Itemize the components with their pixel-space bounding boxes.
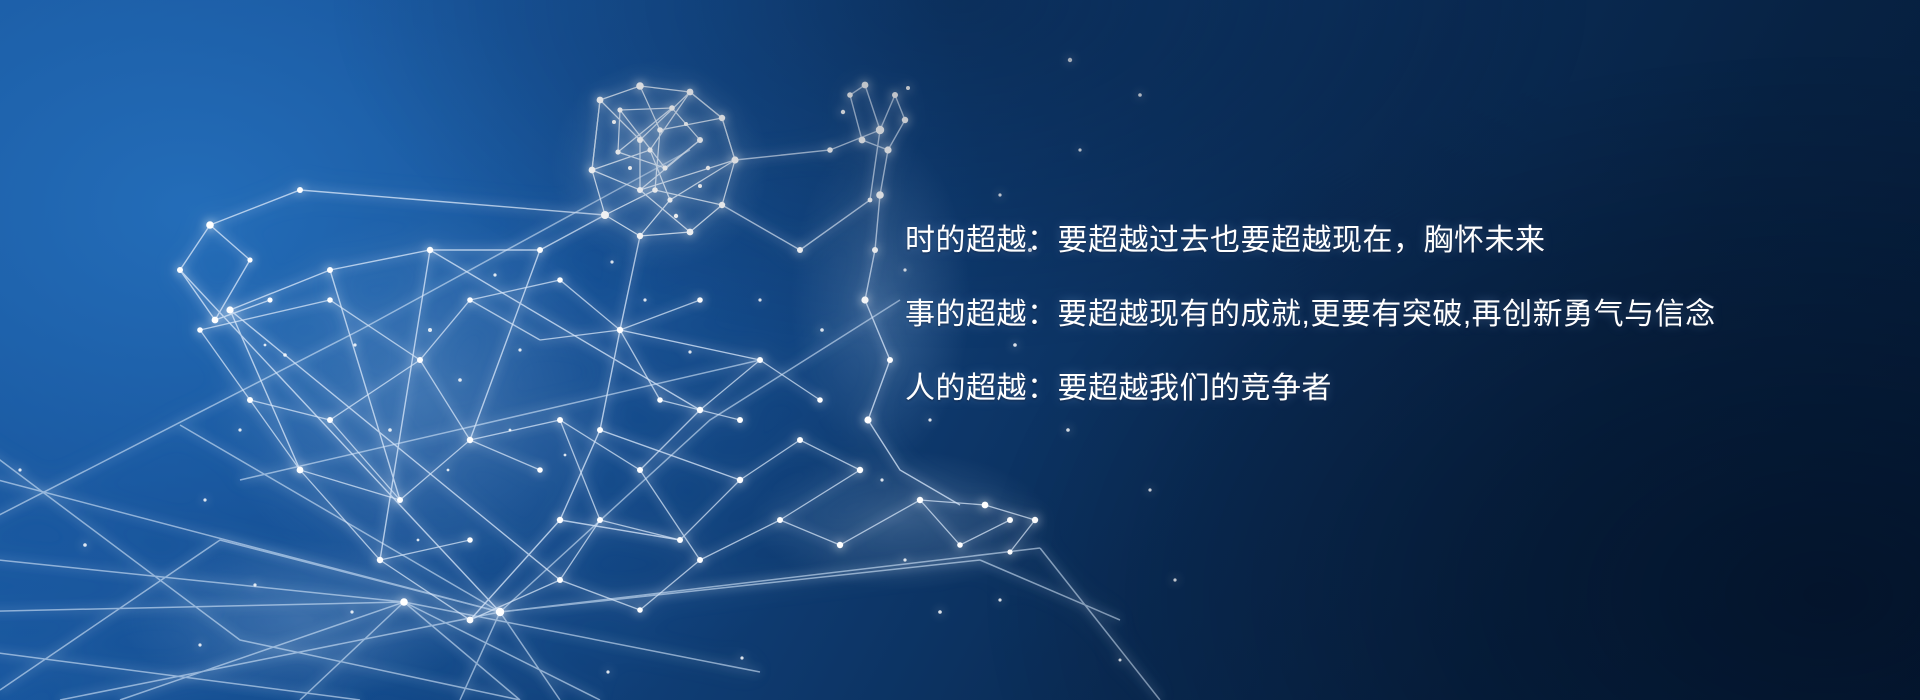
slogan-line-time: 时的超越：要超越过去也要超越现在，胸怀未来 [905,226,1885,256]
hero-banner: 时的超越：要超越过去也要超越现在，胸怀未来 事的超越：要超越现有的成就,更要有突… [0,0,1920,700]
slogan-line-people: 人的超越：要超越我们的竞争者 [905,374,1885,404]
slogan-line-achievement: 事的超越：要超越现有的成就,更要有突破,再创新勇气与信念 [905,300,1885,330]
slogan-block: 时的超越：要超越过去也要超越现在，胸怀未来 事的超越：要超越现有的成就,更要有突… [905,226,1885,404]
